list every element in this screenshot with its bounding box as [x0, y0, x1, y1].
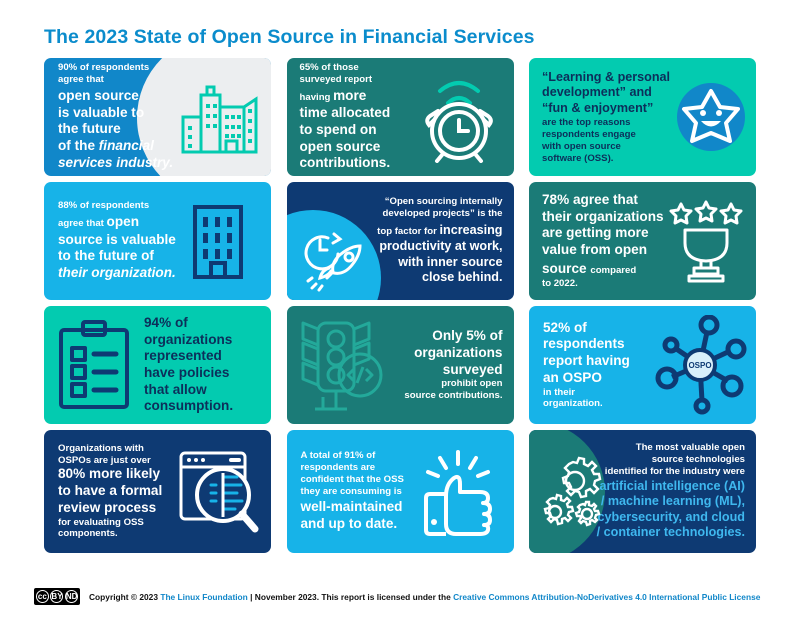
card-line: prohibit open [370, 378, 503, 390]
card-icon [420, 448, 496, 536]
card-line-part: of the [58, 138, 99, 153]
thumbs-up-icon [420, 448, 496, 536]
card-line: 94% of [144, 315, 250, 332]
stat-card-learning-and-fun-top-reasons[interactable]: “Learning & personal development” and “f… [529, 58, 756, 176]
footer: cc BY ND Copyright © 2023 The Linux Foun… [34, 588, 760, 605]
card-text: 90% of respondents agree that open sourc… [44, 62, 176, 171]
card-line: respondents engage [542, 129, 677, 141]
infographic-page: The 2023 State of Open Source in Financi… [0, 0, 800, 618]
cc-icon: cc [36, 590, 49, 603]
card-line: the future [58, 121, 176, 138]
card-line: organization. [543, 398, 651, 410]
footer-middle: | November 2023. This report is licensed… [248, 592, 453, 602]
card-line: source technologies [588, 454, 745, 466]
card-line: “Learning & personal [542, 70, 677, 85]
card-line-part: top factor for [377, 226, 439, 237]
card-text: 88% of respondents agree that open sourc… [44, 200, 182, 282]
card-text: The most valuable open source technologi… [588, 442, 756, 540]
card-line: “fun & enjoyment” [542, 101, 677, 116]
card-icon [189, 201, 247, 281]
card-line-part: financial [99, 138, 154, 153]
card-text: 78% agree that their organizations are g… [529, 192, 665, 290]
card-line: services industry. [58, 155, 176, 172]
card-line: time allocated [300, 105, 415, 122]
card-line: to have a formal [58, 483, 174, 500]
card-icon [668, 198, 744, 284]
cc-by-icon: BY [50, 590, 63, 603]
card-line: 88% of respondents [58, 200, 182, 212]
card-line: confident that the OSS [301, 474, 423, 486]
stat-card-more-time-allocated[interactable]: 65% of those surveyed report having more… [287, 58, 514, 176]
card-line: OSPOs are just over [58, 455, 174, 467]
card-line: organizations [370, 345, 503, 362]
rocket-clock-icon [298, 224, 370, 292]
clipboard-checklist-icon [56, 319, 132, 411]
card-line: for evaluating OSS [58, 517, 174, 529]
card-line: review process [58, 500, 174, 517]
card-line: The most valuable open [588, 442, 745, 454]
card-line: 80% more likely [58, 466, 174, 483]
card-line: 90% of respondents [58, 62, 176, 74]
card-line: / machine learning (ML), [588, 494, 745, 509]
card-line: software (OSS). [542, 153, 677, 165]
card-text: 65% of those surveyed report having more… [287, 62, 415, 172]
card-line: are getting more [542, 225, 665, 242]
card-line: respondents [543, 336, 651, 353]
footer-text: Copyright © 2023 The Linux Foundation | … [89, 592, 760, 602]
card-line: their organization. [58, 265, 182, 282]
card-line-part: source [542, 261, 590, 276]
card-line: / container technologies. [588, 525, 745, 540]
card-line: to 2022. [542, 278, 665, 290]
card-line: components. [58, 528, 174, 540]
browser-magnifier-icon [175, 447, 261, 537]
stat-card-oss-well-maintained[interactable]: A total of 91% of respondents are confid… [287, 430, 514, 553]
card-icon [175, 79, 261, 155]
card-line: organizations [144, 332, 250, 349]
card-line-part: increasing [440, 223, 503, 237]
card-line: in their [543, 387, 651, 399]
card-line: Only 5% of [370, 328, 503, 345]
card-text: Organizations with OSPOs are just over 8… [44, 443, 174, 540]
card-line: open source [58, 88, 176, 105]
card-line: of the financial [58, 138, 176, 155]
card-icon [298, 224, 370, 292]
cc-nd-icon: ND [65, 590, 78, 603]
stat-card-ospo-formal-review-process[interactable]: Organizations with OSPOs are just over 8… [44, 430, 271, 553]
card-line: to spend on [300, 122, 415, 139]
city-buildings-icon [175, 79, 261, 155]
card-line: Organizations with [58, 443, 174, 455]
card-icon: OSPO [652, 315, 748, 415]
card-line: consumption. [144, 398, 250, 415]
card-line: their organizations [542, 209, 665, 226]
card-icon [175, 447, 261, 537]
card-line: source compared [542, 259, 665, 279]
card-line-part: agree that [58, 218, 107, 229]
card-line: development” and [542, 85, 677, 100]
card-text: 52% of respondents report having an OSPO… [529, 320, 651, 410]
creative-commons-badge-icon: cc BY ND [34, 588, 80, 605]
card-icon [672, 78, 750, 156]
card-line: having more [300, 86, 415, 106]
page-title: The 2023 State of Open Source in Financi… [44, 26, 535, 49]
stat-card-most-valuable-technologies[interactable]: The most valuable open source technologi… [529, 430, 756, 553]
alarm-clock-icon [416, 71, 502, 163]
stat-card-inner-source-productivity[interactable]: “Open sourcing internally developed proj… [287, 182, 514, 300]
card-line: 52% of [543, 320, 651, 337]
office-building-icon [189, 201, 247, 281]
license-link[interactable]: Creative Commons Attribution-NoDerivativ… [453, 592, 760, 602]
card-line: surveyed [370, 362, 503, 379]
card-line: source is valuable [58, 232, 182, 249]
card-line: value from open [542, 242, 665, 259]
card-line: with open source [542, 141, 677, 153]
stat-card-have-an-ospo[interactable]: 52% of respondents report having an OSPO… [529, 306, 756, 424]
card-line: A total of 91% of [301, 450, 423, 462]
card-text: A total of 91% of respondents are confid… [287, 450, 423, 533]
card-line: 78% agree that [542, 192, 665, 209]
card-line: agree that [58, 74, 176, 86]
card-line: is valuable to [58, 105, 176, 122]
stat-card-respondents-value-organization[interactable]: 88% of respondents agree that open sourc… [44, 182, 271, 300]
card-icon [537, 454, 607, 530]
card-line: identified for the industry were [588, 466, 745, 478]
card-line: to the future of [58, 248, 182, 265]
ospo-network-icon: OSPO [652, 315, 748, 415]
card-line-part: having [300, 92, 334, 103]
card-line: are the top reasons [542, 117, 677, 129]
card-line: developed projects” is the [344, 208, 503, 220]
stat-card-more-value-from-open-source[interactable]: 78% agree that their organizations are g… [529, 182, 756, 300]
card-line: 65% of those [300, 62, 415, 74]
gears-icon [537, 454, 607, 530]
card-line: surveyed report [300, 74, 415, 86]
smiling-star-icon [672, 78, 750, 156]
card-line: “Open sourcing internally [344, 196, 503, 208]
copyright-prefix: Copyright © 2023 [89, 592, 160, 602]
card-line: represented [144, 348, 250, 365]
stat-card-respondents-value-industry[interactable]: 90% of respondents agree that open sourc… [44, 58, 271, 176]
card-text: 94% of organizations represented have po… [132, 315, 250, 415]
card-line-part: compared [590, 265, 636, 276]
card-text: Only 5% of organizations surveyed prohib… [370, 328, 514, 402]
card-line: open source [300, 139, 415, 156]
card-line: and up to date. [301, 516, 423, 533]
card-line: agree that open [58, 212, 182, 232]
card-icon [56, 319, 132, 411]
trophy-stars-icon [668, 198, 744, 284]
card-icon [416, 71, 502, 163]
card-line: artificial intelligence (AI) [588, 479, 745, 494]
card-line: that allow [144, 382, 250, 399]
card-line-part: open [107, 214, 139, 229]
stat-card-grid: 90% of respondents agree that open sourc… [44, 58, 756, 553]
card-line: respondents are [301, 462, 423, 474]
card-line: contributions. [300, 155, 415, 172]
linux-foundation-link[interactable]: The Linux Foundation [160, 592, 247, 602]
card-line: report having [543, 353, 651, 370]
card-text: “Learning & personal development” and “f… [529, 70, 677, 165]
card-line: an OSPO [543, 370, 651, 387]
card-line: source contributions. [370, 390, 503, 402]
stat-card-prohibit-contributions[interactable]: Only 5% of organizations surveyed prohib… [287, 306, 514, 424]
stat-card-policies-allow-consumption[interactable]: 94% of organizations represented have po… [44, 306, 271, 424]
card-line: cybersecurity, and cloud [588, 510, 745, 525]
svg-text:OSPO: OSPO [688, 361, 711, 370]
card-line: well-maintained [301, 499, 423, 516]
card-line-part: more [333, 88, 366, 103]
card-line: they are consuming is [301, 486, 423, 498]
card-line: have policies [144, 365, 250, 382]
